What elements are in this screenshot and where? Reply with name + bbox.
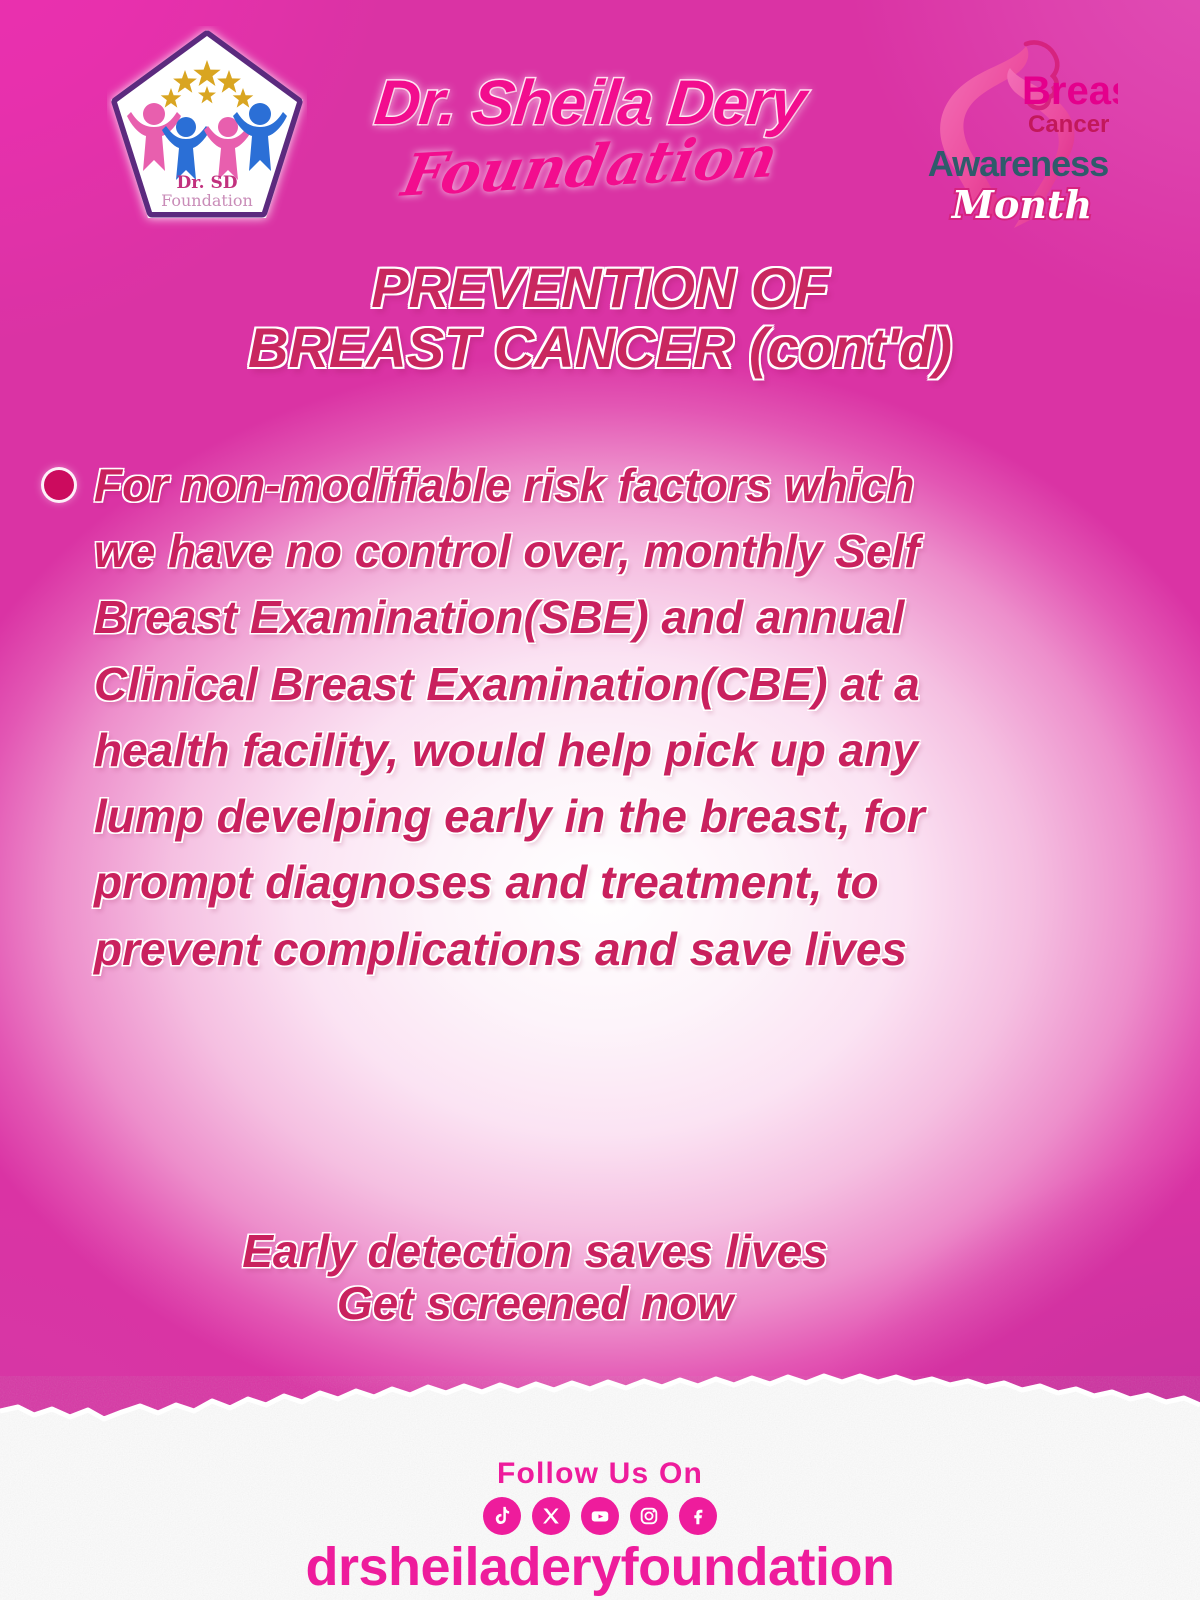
poster-header: Dr. SD Foundation Dr. Sheila Dery Founda… <box>0 0 1200 245</box>
body-line-6: lump develping early in the breast, for <box>94 783 1156 849</box>
body-line-1: For non-modifiable risk factors which <box>94 452 1156 518</box>
bullet-item: For non-modifiable risk factors which we… <box>44 452 1156 982</box>
breast-cancer-awareness-month-badge: Breast Cancer Awareness Month <box>918 18 1118 238</box>
page-title: PREVENTION OF BREAST CANCER (cont'd) <box>0 258 1200 378</box>
youtube-icon[interactable] <box>581 1497 619 1535</box>
facebook-icon[interactable] <box>679 1497 717 1535</box>
body-line-7: prompt diagnoses and treatment, to <box>94 849 1156 915</box>
social-links <box>0 1497 1200 1535</box>
poster-content: Dr. SD Foundation Dr. Sheila Dery Founda… <box>0 0 1200 1600</box>
page-title-line-1: PREVENTION OF <box>0 258 1200 318</box>
body-line-8: prevent complications and save lives <box>94 916 1156 982</box>
tagline-line-2: Get screened now <box>0 1278 1070 1330</box>
instagram-icon[interactable] <box>630 1497 668 1535</box>
bullet-dot-icon <box>44 470 74 500</box>
body-line-2: we have no control over, monthly Self <box>94 518 1156 584</box>
badge-awareness-text: Awareness <box>928 143 1108 184</box>
tiktok-icon[interactable] <box>483 1497 521 1535</box>
logo-text-line1: Dr. SD <box>177 173 238 193</box>
bullet-text: For non-modifiable risk factors which we… <box>94 452 1156 982</box>
dr-sd-foundation-logo: Dr. SD Foundation <box>107 26 307 231</box>
badge-breast-text: Breast <box>1022 69 1118 113</box>
footer-content: Follow Us On <box>0 1457 1200 1594</box>
page-title-line-2: BREAST CANCER (cont'd) <box>0 318 1200 378</box>
social-handle: drsheiladeryfoundation <box>0 1540 1200 1594</box>
body-content: For non-modifiable risk factors which we… <box>44 452 1156 982</box>
logo-text-line2: Foundation <box>161 191 253 210</box>
badge-month-text: Month <box>950 182 1092 227</box>
badge-cancer-text: Cancer <box>1028 111 1109 138</box>
body-line-4: Clinical Breast Examination(CBE) at a <box>94 651 1156 717</box>
follow-us-label: Follow Us On <box>0 1457 1200 1491</box>
body-line-5: health facility, would help pick up any <box>94 717 1156 783</box>
poster-footer: Follow Us On <box>0 1365 1200 1600</box>
foundation-wordmark: Dr. Sheila Dery Foundation <box>330 72 850 222</box>
body-line-3: Breast Examination(SBE) and annual <box>94 584 1156 650</box>
tagline: Early detection saves lives Get screened… <box>0 1226 1070 1329</box>
poster: Dr. SD Foundation Dr. Sheila Dery Founda… <box>0 0 1200 1600</box>
tagline-line-1: Early detection saves lives <box>0 1226 1070 1278</box>
x-twitter-icon[interactable] <box>532 1497 570 1535</box>
